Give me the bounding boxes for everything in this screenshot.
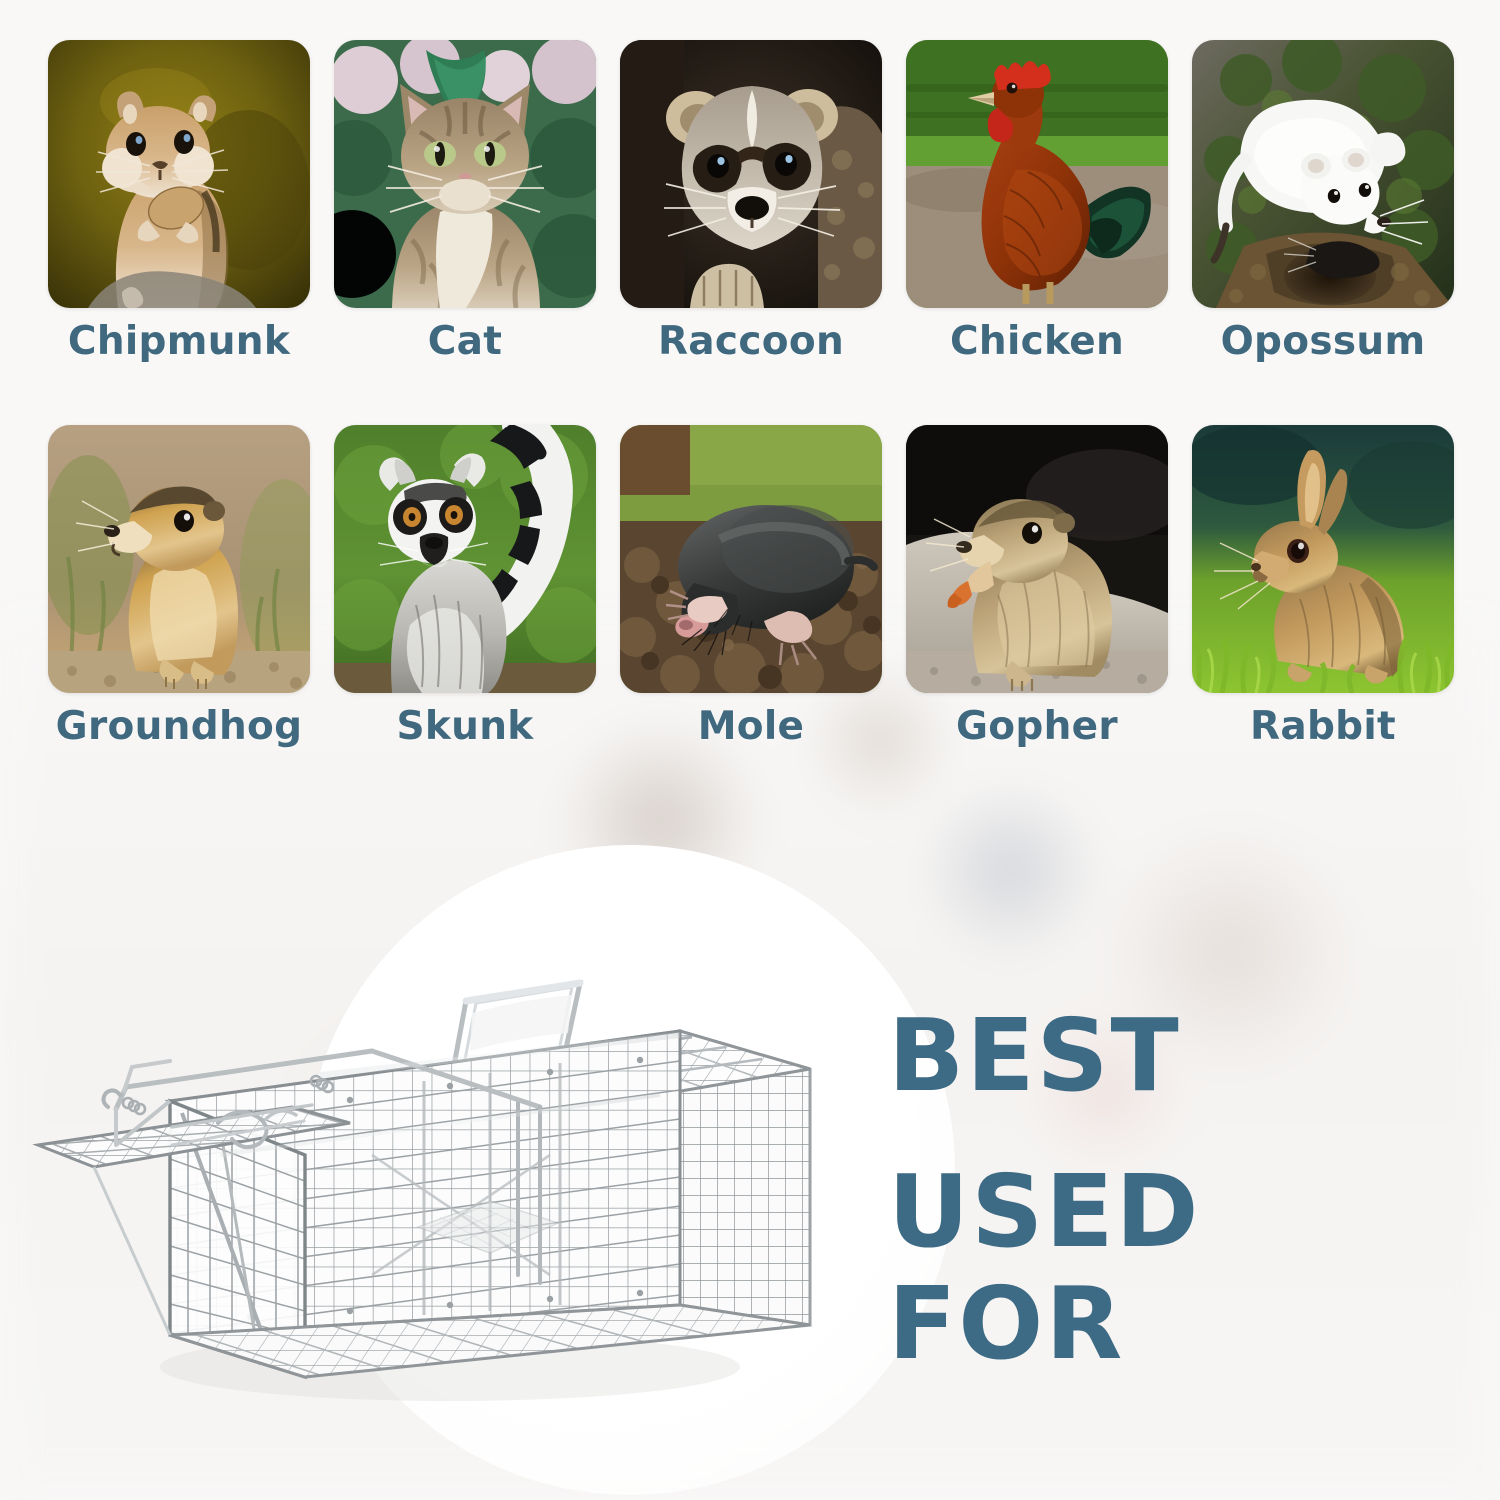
- animal-cell-opossum[interactable]: Opossum: [1192, 40, 1454, 361]
- animal-label: Groundhog: [56, 707, 303, 746]
- skunk-photo: [334, 425, 596, 693]
- chipmunk-photo: [48, 40, 310, 308]
- cat-photo: [334, 40, 596, 308]
- animal-cell-mole[interactable]: Mole: [620, 425, 882, 746]
- animal-cell-skunk[interactable]: Skunk: [334, 425, 596, 746]
- animal-grid-row-2: Groundhog: [48, 425, 1458, 746]
- animal-label: Skunk: [397, 707, 534, 746]
- animal-label: Gopher: [956, 707, 1118, 746]
- animal-cell-gopher[interactable]: Gopher: [906, 425, 1168, 746]
- mole-photo: [620, 425, 882, 693]
- animal-cell-raccoon[interactable]: Raccoon: [620, 40, 882, 361]
- animal-cell-groundhog[interactable]: Groundhog: [48, 425, 310, 746]
- animal-cell-rabbit[interactable]: Rabbit: [1192, 425, 1454, 746]
- animal-grid-row-1: Chipmunk: [48, 40, 1458, 361]
- animal-label: Chipmunk: [68, 322, 290, 361]
- animal-label: Mole: [698, 707, 805, 746]
- animal-label: Cat: [428, 322, 502, 361]
- chicken-photo: [906, 40, 1168, 308]
- opossum-photo: [1192, 40, 1454, 308]
- gopher-photo: [906, 425, 1168, 693]
- headline-block: BEST USED FOR: [888, 1000, 1468, 1380]
- animal-label: Opossum: [1221, 322, 1426, 361]
- raccoon-photo: [620, 40, 882, 308]
- animal-cell-cat[interactable]: Cat: [334, 40, 596, 361]
- animal-label: Rabbit: [1250, 707, 1396, 746]
- headline-line-1: BEST: [888, 1000, 1468, 1112]
- animal-label: Raccoon: [658, 322, 844, 361]
- headline-line-2: USED FOR: [888, 1156, 1468, 1380]
- groundhog-photo: [48, 425, 310, 693]
- live-animal-cage-trap-image: [20, 855, 880, 1415]
- animal-label: Chicken: [950, 322, 1124, 361]
- animal-cell-chicken[interactable]: Chicken: [906, 40, 1168, 361]
- rabbit-photo: [1192, 425, 1454, 693]
- animal-cell-chipmunk[interactable]: Chipmunk: [48, 40, 310, 361]
